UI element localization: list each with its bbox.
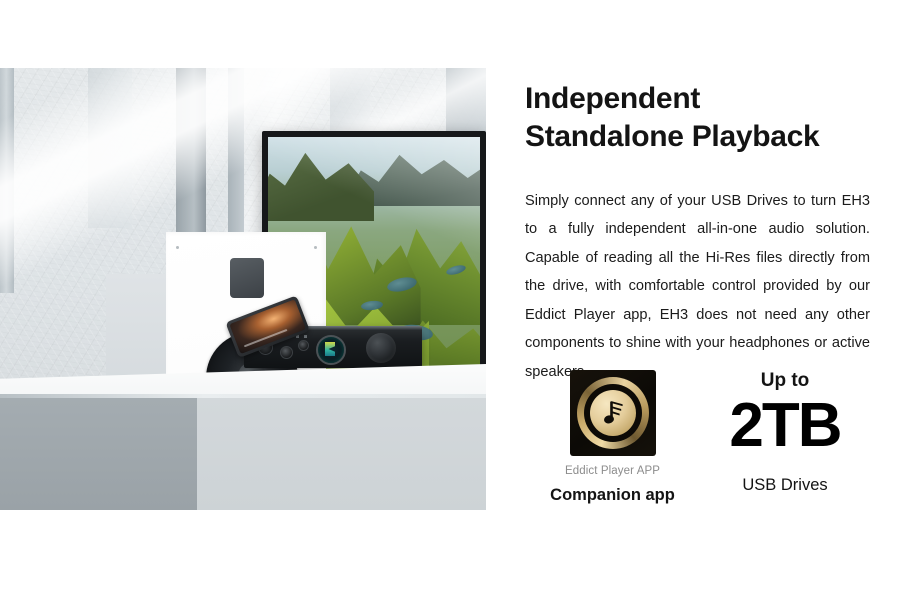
speaker-tweeter [230, 258, 264, 298]
feature-label-companion-app: Companion app [550, 486, 675, 505]
headphone-jack [280, 346, 293, 359]
wall-pilaster [0, 68, 14, 293]
gold-disc [590, 390, 636, 436]
pedestal-front-face [197, 398, 486, 510]
volume-knob [366, 333, 396, 363]
wall-pilaster [88, 68, 132, 228]
speaker-screw [314, 246, 317, 249]
pedestal-left-face [0, 398, 198, 510]
speaker-screw [176, 246, 179, 249]
page-title-line2: Standalone Playback [525, 120, 819, 153]
body-paragraph: Simply connect any of your USB Drives to… [525, 187, 870, 387]
feature-companion-app: Eddict Player APP Companion app [525, 370, 700, 505]
promo-page: Independent Standalone Playback Simply c… [0, 0, 900, 592]
display-content [325, 342, 335, 356]
feature-row: Eddict Player APP Companion app Up to 2T… [525, 370, 870, 505]
app-icon-sublabel: Eddict Player APP [565, 465, 660, 477]
gold-ring-gap [584, 384, 642, 442]
page-title: Independent Standalone Playback [525, 80, 885, 156]
product-photo [0, 68, 486, 510]
amplifier-display [316, 335, 346, 365]
music-note-icon [598, 398, 628, 428]
headphone-jack [298, 340, 309, 351]
eddict-player-app-icon [570, 370, 656, 456]
text-panel: Independent Standalone Playback Simply c… [525, 0, 870, 592]
page-title-line1: Independent [525, 82, 700, 115]
feature-usb-capacity: Up to 2TB USB Drives [700, 370, 870, 495]
capacity-value: 2TB [729, 394, 840, 458]
gold-ring-outer [577, 377, 649, 449]
feature-label-usb-drives: USB Drives [742, 476, 827, 495]
capacity-prefix: Up to [761, 370, 810, 392]
